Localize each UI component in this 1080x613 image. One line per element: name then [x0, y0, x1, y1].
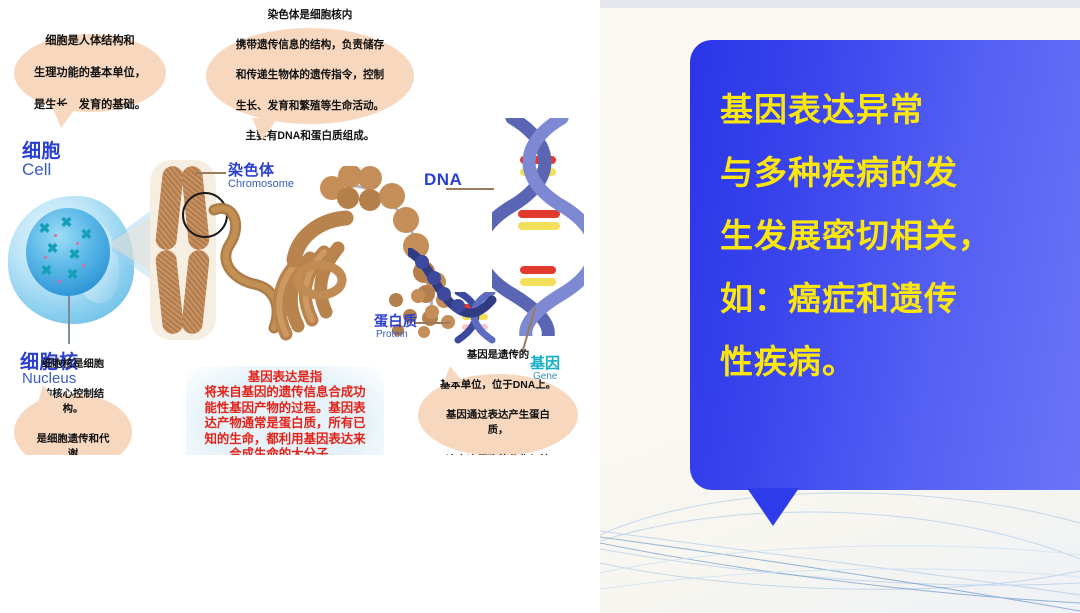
callout-cell-tail	[52, 106, 77, 128]
cell-nucleus: ✖ ✖ ✖ ✖ ✖ ✖ ✖	[26, 208, 110, 296]
nucleus-dot	[82, 264, 85, 267]
slide-canvas: 细胞是人体结构和 生理功能的基本单位， 是生长、发育的基础。 染色体是细胞核内 …	[0, 0, 1080, 613]
gene-expression-line-4: 知的生命，都利用基因表达来	[204, 432, 365, 446]
nucleus-leader-line	[68, 296, 70, 344]
nucleus-dot	[58, 280, 61, 283]
callout-chromosome-tail	[252, 118, 278, 140]
nucleus-dot	[76, 242, 79, 245]
bottom-banner: 基因与细胞的关系 基因与细胞的关系	[0, 455, 597, 613]
callout-cell-line-0: 细胞是人体结构和	[24, 33, 156, 49]
callout-gene: 基因是遗传的 基本单位，位于DNA上。 基因通过表达产生蛋白质， 决定这细胞的分…	[418, 374, 578, 456]
chromatin-to-gene-link	[408, 248, 498, 348]
chromosome-glyph: ✖	[60, 216, 73, 229]
protein-leader	[414, 322, 450, 324]
callout-cell: 细胞是人体结构和 生理功能的基本单位， 是生长、发育的基础。	[14, 34, 166, 112]
nucleus-dot	[44, 256, 47, 259]
callout-line-0: 基因表达异常	[720, 78, 1070, 141]
callout-chromosome-line-1: 携带遗传信息的结构，负责储存	[226, 38, 394, 53]
gene-expression-line-0: 基因表达是指	[248, 370, 322, 384]
callout-line-4: 性疾病。	[720, 330, 1070, 393]
gene-disease-callout-text: 基因表达异常 与多种疾病的发 生发展密切相关， 如：癌症和遗传 性疾病。	[720, 78, 1070, 393]
callout-chromosome-line-0: 染色体是细胞核内	[226, 8, 394, 23]
callout-cell-line-1: 生理功能的基本单位，	[24, 65, 156, 81]
label-chromosome-en: Chromosome	[228, 178, 294, 190]
callout-cell-line-2: 是生长、发育的基础。	[24, 97, 156, 113]
callout-line-3: 如：癌症和遗传	[720, 267, 1070, 330]
label-cell-en: Cell	[22, 160, 51, 180]
chromosome-glyph: ✖	[66, 268, 79, 281]
chromosome-glyph: ✖	[80, 228, 93, 241]
label-protein-en: Protein	[376, 329, 408, 340]
gene-expression-line-2: 能性基因产物的过程。基因表	[204, 401, 365, 415]
callout-line-2: 生发展密切相关，	[720, 204, 1070, 267]
callout-nucleus-line-0: 细胞核是细胞	[24, 357, 122, 372]
label-protein-cn: 蛋白质	[374, 311, 418, 331]
label-dna-cn: DNA	[424, 170, 462, 190]
gene-expression-line-3: 达产物通常是蛋白质，所有已	[204, 416, 365, 430]
callout-chromosome-line-3: 生长、发育和繁殖等生命活动。	[226, 99, 394, 114]
dna-double-helix	[492, 118, 584, 336]
callout-gene-tail	[444, 366, 463, 382]
callout-nucleus-tail	[38, 385, 55, 402]
nucleus-dot	[54, 234, 57, 237]
chromosome-glyph: ✖	[68, 248, 81, 261]
panel-top-strip	[600, 0, 1080, 8]
callout-chromosome-line-2: 和传递生物体的遗传指令，控制	[226, 68, 394, 83]
label-cell-cn: 细胞	[22, 136, 61, 163]
label-chromosome-cn: 染色体	[228, 159, 275, 180]
chromosome-leader	[196, 172, 226, 174]
callout-gene-line-2: 基因通过表达产生蛋白质，	[428, 408, 568, 438]
chromosome-figure	[150, 160, 216, 340]
gene-disease-callout-tail	[747, 488, 799, 526]
disease-callout-panel: 基因表达异常 与多种疾病的发 生发展密切相关， 如：癌症和遗传 性疾病。	[600, 0, 1080, 613]
callout-line-1: 与多种疾病的发	[720, 141, 1070, 204]
callout-chromosome: 染色体是细胞核内 携带遗传信息的结构，负责储存 和传递生物体的遗传指令，控制 生…	[206, 28, 414, 124]
gene-expression-line-1: 将来自基因的遗传信息合成功	[204, 385, 365, 399]
chromosome-glyph: ✖	[38, 222, 51, 235]
callout-gene-line-0: 基因是遗传的	[428, 348, 568, 363]
gene-expression-note: 基因表达是指 将来自基因的遗传信息合成功 能性基因产物的过程。基因表 达产物通常…	[186, 370, 384, 462]
chromosome-glyph: ✖	[40, 264, 53, 277]
chromosome-glyph: ✖	[46, 242, 59, 255]
gene-cell-diagram-panel: 细胞是人体结构和 生理功能的基本单位， 是生长、发育的基础。 染色体是细胞核内 …	[0, 0, 597, 613]
